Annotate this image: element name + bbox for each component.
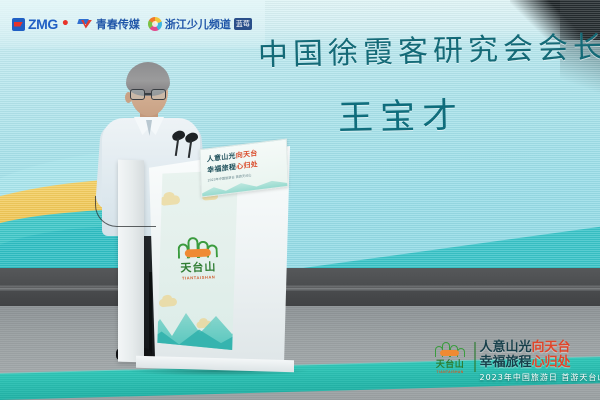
branding-logo-cn: 天台山	[430, 357, 470, 370]
logo-qingchun-media: 青春传媒	[78, 16, 140, 32]
logo-zmg: ZMG •	[12, 16, 70, 32]
podium: 天台山 TIANTAISHAN 人意山光向天台 幸福旅程心归处 2023年中国旅…	[118, 146, 298, 364]
podium-sign-line2-dark: 幸福旅程	[207, 163, 236, 175]
branding-divider	[474, 342, 476, 372]
mountain-arch-icon	[435, 341, 465, 357]
branding-slogan-1-red: 向天台	[532, 340, 571, 355]
cloud-motif-icon	[160, 195, 181, 206]
branding-slogan-line-1: 人意山光向天台	[480, 340, 600, 355]
sun-icon	[440, 350, 459, 356]
branding-text-block: 人意山光向天台 幸福旅程心归处 2023年中国旅游日 首游天台山	[480, 338, 600, 383]
podium-tiantaishan-logo: 天台山 TIANTAISHAN	[169, 235, 227, 281]
cloud-motif-icon	[159, 298, 178, 308]
branding-slogan-line-2: 幸福旅程心归处	[480, 355, 600, 370]
branding-slogan-2-red: 心归处	[532, 355, 571, 370]
branding-logo-en: TIANTAISHAN	[430, 370, 470, 374]
logo-qingchun-label: 青春传媒	[96, 16, 140, 32]
speaker-role-title: 中国徐霞客研究会会长	[258, 23, 589, 74]
screen-title-block: 中国徐霞客研究会会长 王宝才	[258, 30, 588, 139]
podium-decorative-panel: 天台山 TIANTAISHAN	[154, 170, 238, 350]
zmg-square-logo-icon	[12, 18, 25, 31]
podium-left-column	[118, 160, 144, 363]
speaker-glasses-icon	[129, 89, 169, 100]
speaker-name-title: 王宝才	[257, 84, 588, 142]
podium-sign-line2-red: 心归处	[236, 160, 258, 171]
event-branding-watermark: 天台山 TIANTAISHAN 人意山光向天台 幸福旅程心归处 2023年中国旅…	[430, 338, 596, 394]
logo-zmg-dot: •	[61, 16, 70, 32]
microphone-left	[172, 131, 185, 140]
sun-icon	[185, 249, 211, 258]
microphone-right	[185, 133, 198, 142]
qingchun-check-logo-icon	[78, 18, 93, 31]
podium-sign-line1-red: 向天台	[236, 149, 258, 160]
logo-zmg-label: ZMG	[28, 16, 58, 32]
branding-tiantaishan-logo: 天台山 TIANTAISHAN	[430, 338, 470, 374]
decorative-wave-right-teal	[260, 224, 600, 270]
podium-logo-cn: 天台山	[170, 258, 227, 276]
podium-logo-en: TIANTAISHAN	[171, 274, 227, 281]
screenshot-root: ZMG • 青春传媒 浙江少儿频道 蓝莓 中国徐霞客研究会会长 王宝才	[0, 0, 600, 400]
branding-subtitle: 2023年中国旅游日 首游天台山	[480, 372, 600, 383]
broadcaster-logo-bar: ZMG • 青春传媒 浙江少儿频道 蓝莓	[0, 0, 265, 48]
mountain-arch-icon	[176, 235, 219, 258]
branding-slogan-2-dark: 幸福旅程	[480, 355, 532, 370]
stage-wall-seam	[0, 288, 600, 291]
logo-kids-badge: 蓝莓	[234, 18, 252, 30]
logo-zhejiang-kids-channel: 浙江少儿频道 蓝莓	[148, 16, 252, 32]
branding-slogan-1-dark: 人意山光	[480, 340, 532, 355]
stage-cable	[95, 196, 156, 227]
logo-kids-label: 浙江少儿频道	[165, 16, 231, 32]
kids-channel-circle-logo-icon	[148, 17, 162, 31]
